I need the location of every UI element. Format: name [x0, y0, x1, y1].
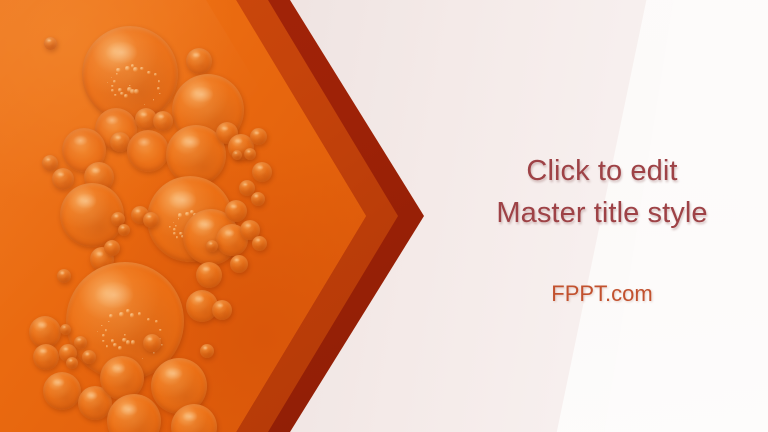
brand-label: FPPT.com	[452, 281, 752, 307]
title-line-2: Master title style	[452, 192, 752, 234]
page-title[interactable]: Click to edit Master title style	[452, 150, 752, 234]
title-line-1: Click to edit	[526, 155, 677, 187]
slide-canvas: Click to edit Master title style FPPT.co…	[0, 0, 768, 432]
